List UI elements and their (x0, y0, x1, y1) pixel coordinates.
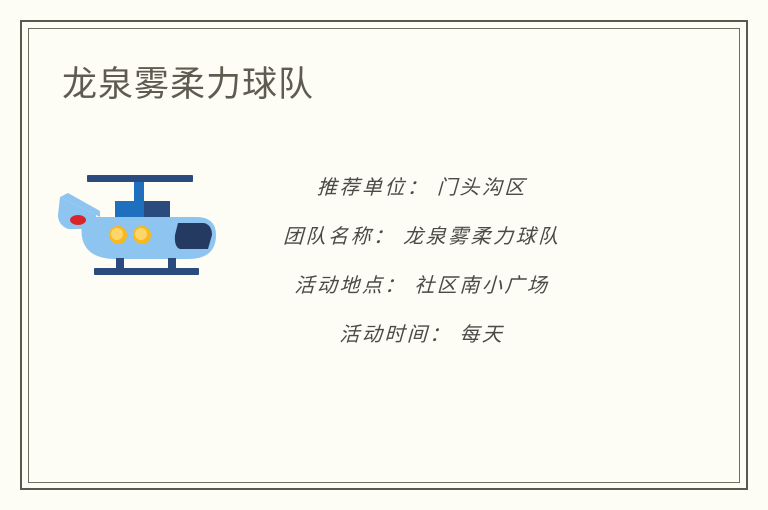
info-line-activity-location: 活动地点： 社区南小广场 (235, 262, 609, 311)
landing-skid-shape (94, 268, 199, 275)
rotor-mast-shape (134, 182, 144, 204)
cockpit-window-shape (175, 223, 212, 249)
info-line-activity-time: 活动时间： 每天 (235, 311, 609, 360)
helicopter-illustration (56, 163, 226, 278)
window-rear-highlight-shape (135, 228, 147, 240)
poster-canvas: 龙泉雾柔力球队 (0, 0, 768, 510)
helicopter-icon (56, 163, 226, 278)
info-line-recommending-unit: 推荐单位： 门头沟区 (235, 164, 609, 213)
info-line-team-name: 团队名称： 龙泉雾柔力球队 (235, 213, 609, 262)
tail-light-shape (70, 215, 86, 225)
engine-housing-left-shape (115, 201, 144, 218)
engine-housing-right-shape (144, 201, 170, 218)
window-front-highlight-shape (111, 228, 123, 240)
rotor-blade-shape (87, 175, 193, 182)
info-block: 推荐单位： 门头沟区 团队名称： 龙泉雾柔力球队 活动地点： 社区南小广场 活动… (236, 164, 608, 360)
page-title: 龙泉雾柔力球队 (62, 63, 314, 107)
